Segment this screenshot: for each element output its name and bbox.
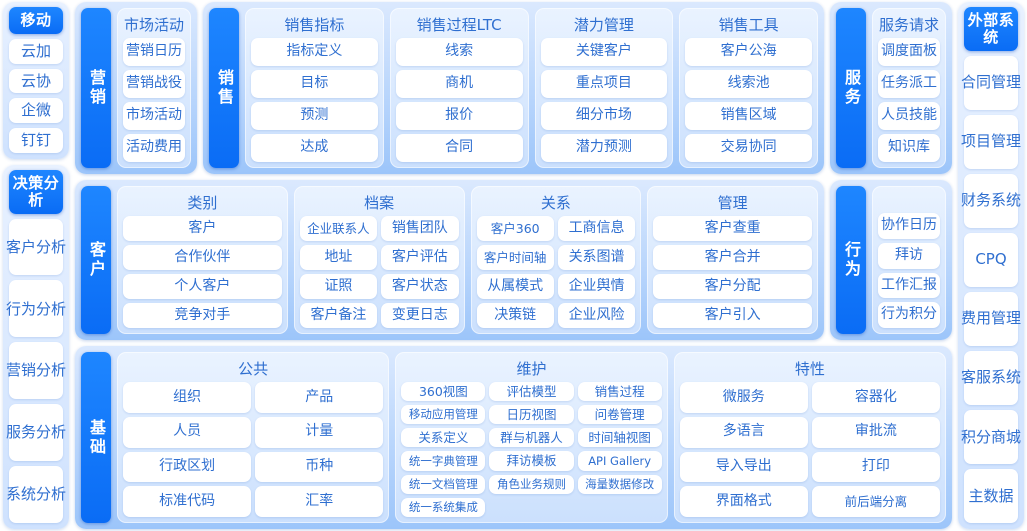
- tile-grid: 协作日历拜访工作汇报行为积分: [878, 213, 940, 328]
- tile[interactable]: 统一系统集成: [401, 498, 485, 517]
- tile[interactable]: 商机: [396, 70, 523, 98]
- tile-grid: 调度面板任务派工人员技能知识库: [878, 38, 940, 162]
- tile[interactable]: 工作汇报: [878, 273, 940, 299]
- tile[interactable]: 问卷管理: [578, 405, 662, 424]
- tile[interactable]: 人员: [123, 417, 251, 448]
- group-list: 服务请求调度面板任务派工人员技能知识库: [872, 8, 946, 168]
- group-title: 销售工具: [685, 11, 812, 38]
- tile[interactable]: 任务派工: [878, 70, 940, 98]
- rail-item[interactable]: 系统分析: [9, 466, 63, 523]
- rail-item[interactable]: 云协: [9, 69, 63, 94]
- tile[interactable]: 决策链: [477, 303, 554, 328]
- tile[interactable]: 微服务: [680, 382, 808, 413]
- tile[interactable]: 细分市场: [541, 102, 668, 130]
- tile[interactable]: 人员技能: [878, 102, 940, 130]
- group-list: 类别客户合作伙伴个人客户竞争对手档案企业联系人销售团队地址客户评估证照客户状态客…: [117, 186, 818, 334]
- group-card: 特性微服务容器化多语言审批流导入导出打印界面格式前后端分离: [674, 352, 946, 523]
- tile[interactable]: 容器化: [812, 382, 940, 413]
- group-list: 公共组织产品人员计量行政区划币种标准代码汇率维护360视图评估模型销售过程移动应…: [117, 352, 946, 523]
- group-list: 销售指标指标定义目标预测达成销售过程LTC线索商机报价合同潜力管理关键客户重点项…: [245, 8, 818, 168]
- rail-item[interactable]: 营销分析: [9, 342, 63, 399]
- rail-panel-header[interactable]: 外部系统: [964, 7, 1018, 51]
- tile[interactable]: 打印: [812, 452, 940, 483]
- domain-card: 销售销售指标指标定义目标预测达成销售过程LTC线索商机报价合同潜力管理关键客户重…: [203, 2, 824, 174]
- group-card: 维护360视图评估模型销售过程移动应用管理日历视图问卷管理关系定义群与机器人时间…: [395, 352, 667, 523]
- tile[interactable]: 计量: [255, 417, 383, 448]
- tile[interactable]: 产品: [255, 382, 383, 413]
- tile-grid: 客户360工商信息客户时间轴关系图谱从属模式企业舆情决策链企业风险: [477, 216, 636, 328]
- group-card: 协作日历拜访工作汇报行为积分: [872, 186, 946, 334]
- tile[interactable]: 客户合并: [653, 245, 812, 270]
- domain-card: 行为 协作日历拜访工作汇报行为积分: [830, 180, 952, 340]
- rail-item[interactable]: 主数据: [964, 469, 1018, 523]
- domain-card: 营销市场活动营销日历营销战役市场活动活动费用: [75, 2, 197, 174]
- tile[interactable]: 拜访: [878, 243, 940, 269]
- tile-grid: 营销日历营销战役市场活动活动费用: [123, 38, 185, 162]
- tile[interactable]: 合同: [396, 134, 523, 162]
- group-title: 销售过程LTC: [396, 11, 523, 38]
- tile[interactable]: 统一字典管理: [401, 451, 485, 470]
- tile[interactable]: 客户时间轴: [477, 245, 554, 270]
- tile[interactable]: 销售过程: [578, 382, 662, 401]
- tile[interactable]: 审批流: [812, 417, 940, 448]
- tile[interactable]: 汇率: [255, 486, 383, 517]
- tile[interactable]: 竞争对手: [123, 303, 282, 328]
- group-title-empty: [878, 189, 940, 213]
- tile[interactable]: 从属模式: [477, 274, 554, 299]
- tile[interactable]: 关系定义: [401, 428, 485, 447]
- group-list: 协作日历拜访工作汇报行为积分: [872, 186, 946, 334]
- tile[interactable]: 关系图谱: [558, 245, 635, 270]
- tile[interactable]: 重点项目: [541, 70, 668, 98]
- row-bottom: 基础公共组织产品人员计量行政区划币种标准代码汇率维护360视图评估模型销售过程移…: [75, 346, 952, 529]
- tile[interactable]: API Gallery: [578, 451, 662, 470]
- tile[interactable]: 群与机器人: [489, 428, 573, 447]
- tile[interactable]: 界面格式: [680, 486, 808, 517]
- group-card: 档案企业联系人销售团队地址客户评估证照客户状态客户备注变更日志: [294, 186, 465, 334]
- domain-label[interactable]: 基础: [81, 352, 111, 523]
- capability-map: 移动云加云协企微钉钉决策分析客户分析行为分析营销分析服务分析系统分析 营销市场活…: [0, 0, 1027, 531]
- tile[interactable]: 客户状态: [381, 274, 458, 299]
- group-title: 特性: [680, 355, 940, 382]
- group-title: 管理: [653, 189, 812, 216]
- group-card: 关系客户360工商信息客户时间轴关系图谱从属模式企业舆情决策链企业风险: [471, 186, 642, 334]
- tile-grid: 客户合作伙伴个人客户竞争对手: [123, 216, 282, 328]
- tile[interactable]: 客户查重: [653, 216, 812, 241]
- tile[interactable]: 移动应用管理: [401, 405, 485, 424]
- rail-item[interactable]: 项目管理: [964, 115, 1018, 169]
- tile[interactable]: 地址: [300, 245, 377, 270]
- rail-item[interactable]: 财务系统: [964, 174, 1018, 228]
- domain-label[interactable]: 行为: [836, 186, 866, 334]
- tile[interactable]: 导入导出: [680, 452, 808, 483]
- tile[interactable]: 工商信息: [558, 216, 635, 241]
- tile[interactable]: 指标定义: [251, 38, 378, 66]
- rail-item[interactable]: 行为分析: [9, 280, 63, 337]
- tile[interactable]: 个人客户: [123, 274, 282, 299]
- rail-item[interactable]: 云加: [9, 39, 63, 64]
- tile-grid: 企业联系人销售团队地址客户评估证照客户状态客户备注变更日志: [300, 216, 459, 328]
- tile[interactable]: 客户: [123, 216, 282, 241]
- tile[interactable]: 行政区划: [123, 452, 251, 483]
- rail-item[interactable]: 企微: [9, 98, 63, 123]
- tile[interactable]: 拜访模板: [489, 451, 573, 470]
- tile[interactable]: 市场活动: [123, 102, 185, 130]
- rail-panel: 决策分析客户分析行为分析营销分析服务分析系统分析: [3, 165, 69, 529]
- group-card: 管理客户查重客户合并客户分配客户引入: [647, 186, 818, 334]
- tile[interactable]: 海量数据修改: [578, 475, 662, 494]
- tile[interactable]: 报价: [396, 102, 523, 130]
- tile-grid: 关键客户重点项目细分市场潜力预测: [541, 38, 668, 162]
- group-title: 维护: [401, 355, 661, 382]
- tile-grid: 组织产品人员计量行政区划币种标准代码汇率: [123, 382, 383, 517]
- tile[interactable]: 预测: [251, 102, 378, 130]
- tile[interactable]: 组织: [123, 382, 251, 413]
- tile[interactable]: 企业风险: [558, 303, 635, 328]
- domain-label[interactable]: 营销: [81, 8, 111, 168]
- group-title: 档案: [300, 189, 459, 216]
- tile[interactable]: 营销日历: [123, 38, 185, 66]
- tile[interactable]: 线索: [396, 38, 523, 66]
- tile[interactable]: 360视图: [401, 382, 485, 401]
- group-title: 销售指标: [251, 11, 378, 38]
- group-card: 销售指标指标定义目标预测达成: [245, 8, 384, 168]
- tile[interactable]: 知识库: [878, 134, 940, 162]
- tile[interactable]: 客户备注: [300, 303, 377, 328]
- tile[interactable]: 企业舆情: [558, 274, 635, 299]
- tile[interactable]: 销售团队: [381, 216, 458, 241]
- domain-card: 服务服务请求调度面板任务派工人员技能知识库: [830, 2, 952, 174]
- tile[interactable]: 活动费用: [123, 134, 185, 162]
- group-card: 销售工具客户公海线索池销售区域交易协同: [679, 8, 818, 168]
- tile[interactable]: 前后端分离: [812, 486, 940, 517]
- group-card: 销售过程LTC线索商机报价合同: [390, 8, 529, 168]
- tile[interactable]: 多语言: [680, 417, 808, 448]
- tile[interactable]: 调度面板: [878, 38, 940, 66]
- tile-grid: 微服务容器化多语言审批流导入导出打印界面格式前后端分离: [680, 382, 940, 517]
- row-top: 营销市场活动营销日历营销战役市场活动活动费用销售销售指标指标定义目标预测达成销售…: [75, 2, 952, 174]
- tile[interactable]: 客户公海: [685, 38, 812, 66]
- tile[interactable]: 变更日志: [381, 303, 458, 328]
- tile[interactable]: 营销战役: [123, 70, 185, 98]
- rail-item[interactable]: 客服系统: [964, 351, 1018, 405]
- tile-grid: 客户查重客户合并客户分配客户引入: [653, 216, 812, 328]
- tile[interactable]: 客户评估: [381, 245, 458, 270]
- tile-grid: 线索商机报价合同: [396, 38, 523, 162]
- rail-item[interactable]: 积分商城: [964, 410, 1018, 464]
- tile[interactable]: 评估模型: [489, 382, 573, 401]
- rail-panel: 外部系统合同管理项目管理财务系统CPQ费用管理客服系统积分商城主数据: [958, 2, 1024, 529]
- tile[interactable]: 日历视图: [489, 405, 573, 424]
- tile[interactable]: 行为积分: [878, 302, 940, 328]
- tile[interactable]: 统一文档管理: [401, 475, 485, 494]
- group-title: 类别: [123, 189, 282, 216]
- tile[interactable]: 合作伙伴: [123, 245, 282, 270]
- tile-grid: 客户公海线索池销售区域交易协同: [685, 38, 812, 162]
- tile[interactable]: 币种: [255, 452, 383, 483]
- center-columns: 营销市场活动营销日历营销战役市场活动活动费用销售销售指标指标定义目标预测达成销售…: [75, 2, 952, 529]
- group-card: 潜力管理关键客户重点项目细分市场潜力预测: [535, 8, 674, 168]
- tile[interactable]: 企业联系人: [300, 216, 377, 241]
- tile[interactable]: 客户分配: [653, 274, 812, 299]
- group-title: 市场活动: [123, 11, 185, 38]
- tile[interactable]: 协作日历: [878, 213, 940, 239]
- tile[interactable]: 交易协同: [685, 134, 812, 162]
- group-title: 服务请求: [878, 11, 940, 38]
- tile-grid: 360视图评估模型销售过程移动应用管理日历视图问卷管理关系定义群与机器人时间轴视…: [401, 382, 661, 517]
- tile[interactable]: 客户引入: [653, 303, 812, 328]
- domain-label[interactable]: 服务: [836, 8, 866, 168]
- rail-item[interactable]: 客户分析: [9, 219, 63, 276]
- group-card: 类别客户合作伙伴个人客户竞争对手: [117, 186, 288, 334]
- domain-label[interactable]: 客户: [81, 186, 111, 334]
- domain-label[interactable]: 销售: [209, 8, 239, 168]
- tile-grid: 指标定义目标预测达成: [251, 38, 378, 162]
- tile[interactable]: 角色业务规则: [489, 475, 573, 494]
- group-title: 公共: [123, 355, 383, 382]
- tile[interactable]: 销售区域: [685, 102, 812, 130]
- row-mid: 客户类别客户合作伙伴个人客户竞争对手档案企业联系人销售团队地址客户评估证照客户状…: [75, 180, 952, 340]
- rail-item[interactable]: CPQ: [964, 233, 1018, 287]
- tile[interactable]: 证照: [300, 274, 377, 299]
- tile[interactable]: 潜力预测: [541, 134, 668, 162]
- tile[interactable]: 关键客户: [541, 38, 668, 66]
- group-title: 关系: [477, 189, 636, 216]
- rail-panel-header[interactable]: 移动: [9, 7, 63, 34]
- rail-item[interactable]: 费用管理: [964, 292, 1018, 346]
- right-rail: 外部系统合同管理项目管理财务系统CPQ费用管理客服系统积分商城主数据: [958, 2, 1024, 529]
- rail-item[interactable]: 合同管理: [964, 56, 1018, 110]
- left-rail: 移动云加云协企微钉钉决策分析客户分析行为分析营销分析服务分析系统分析: [3, 2, 69, 529]
- tile[interactable]: 达成: [251, 134, 378, 162]
- group-title: 潜力管理: [541, 11, 668, 38]
- group-card: 市场活动营销日历营销战役市场活动活动费用: [117, 8, 191, 168]
- rail-item[interactable]: 钉钉: [9, 128, 63, 153]
- rail-item[interactable]: 服务分析: [9, 404, 63, 461]
- tile[interactable]: 目标: [251, 70, 378, 98]
- group-card: 公共组织产品人员计量行政区划币种标准代码汇率: [117, 352, 389, 523]
- rail-panel: 移动云加云协企微钉钉: [3, 2, 69, 159]
- rail-panel-header[interactable]: 决策分析: [9, 170, 63, 214]
- tile[interactable]: 标准代码: [123, 486, 251, 517]
- tile[interactable]: 线索池: [685, 70, 812, 98]
- domain-card: 客户类别客户合作伙伴个人客户竞争对手档案企业联系人销售团队地址客户评估证照客户状…: [75, 180, 824, 340]
- domain-card: 基础公共组织产品人员计量行政区划币种标准代码汇率维护360视图评估模型销售过程移…: [75, 346, 952, 529]
- tile[interactable]: 时间轴视图: [578, 428, 662, 447]
- group-card: 服务请求调度面板任务派工人员技能知识库: [872, 8, 946, 168]
- group-list: 市场活动营销日历营销战役市场活动活动费用: [117, 8, 191, 168]
- tile[interactable]: 客户360: [477, 216, 554, 241]
